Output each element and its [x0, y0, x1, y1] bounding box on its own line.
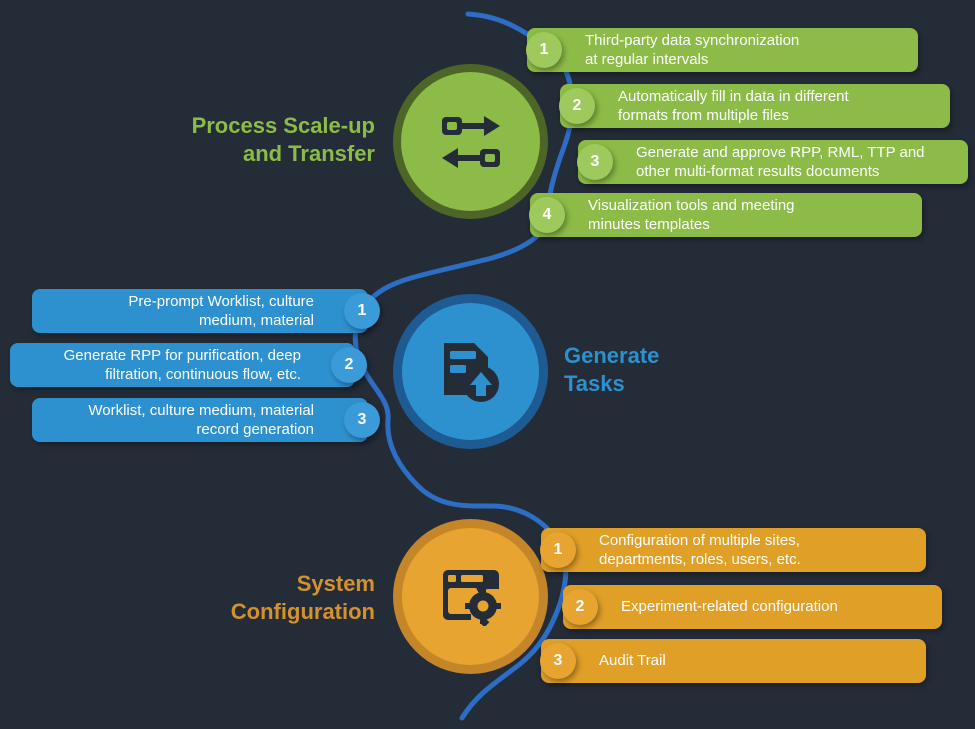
- list-item-label: Pre-prompt Worklist, culture medium, mat…: [32, 292, 368, 330]
- hub-circle-generate-tasks: [393, 294, 548, 449]
- item-number-badge: 1: [540, 532, 576, 568]
- list-item-label: Automatically fill in data in different …: [560, 87, 849, 125]
- item-number-badge: 3: [577, 144, 613, 180]
- item-number-badge: 4: [529, 197, 565, 233]
- section-title-generate-tasks: Generate Tasks: [564, 342, 824, 397]
- list-item[interactable]: 3 Generate and approve RPP, RML, TTP and…: [578, 140, 968, 184]
- transfer-arrows-icon: [440, 114, 502, 170]
- list-item[interactable]: Generate RPP for purification, deep filt…: [10, 343, 355, 387]
- item-number-badge: 2: [562, 589, 598, 625]
- list-item-label: Experiment-related configuration: [563, 597, 838, 616]
- window-gear-icon: [441, 568, 501, 626]
- list-item[interactable]: 3 Audit Trail: [541, 639, 926, 683]
- list-item[interactable]: Worklist, culture medium, material recor…: [32, 398, 368, 442]
- section-title-process-scale-up: Process Scale-up and Transfer: [110, 112, 375, 167]
- item-number-badge: 3: [344, 402, 380, 438]
- list-item[interactable]: 4 Visualization tools and meeting minute…: [530, 193, 922, 237]
- document-upload-icon: [442, 341, 500, 403]
- item-number-badge: 2: [331, 347, 367, 383]
- item-number-badge: 1: [526, 32, 562, 68]
- list-item-label: Generate RPP for purification, deep filt…: [10, 346, 355, 384]
- section-title-system-configuration: System Configuration: [110, 570, 375, 625]
- item-number-badge: 3: [540, 643, 576, 679]
- list-item-label: Worklist, culture medium, material recor…: [32, 401, 368, 439]
- item-number-badge: 1: [344, 293, 380, 329]
- list-item-label: Third-party data synchronization at regu…: [527, 31, 799, 69]
- hub-circle-system-configuration: [393, 519, 548, 674]
- hub-inner-green: [401, 72, 540, 211]
- list-item[interactable]: 2 Automatically fill in data in differen…: [560, 84, 950, 128]
- list-item[interactable]: 1 Third-party data synchronization at re…: [527, 28, 918, 72]
- list-item[interactable]: 2 Experiment-related configuration: [563, 585, 942, 629]
- item-number-badge: 2: [559, 88, 595, 124]
- list-item-label: Generate and approve RPP, RML, TTP and o…: [578, 143, 925, 181]
- list-item[interactable]: 1 Configuration of multiple sites, depar…: [541, 528, 926, 572]
- hub-circle-process-scale-up: [393, 64, 548, 219]
- list-item-label: Configuration of multiple sites, departm…: [541, 531, 801, 569]
- infographic-canvas: Process Scale-up and Transfer: [0, 0, 975, 729]
- hub-inner-orange: [402, 528, 539, 665]
- hub-inner-blue: [402, 303, 539, 440]
- list-item-label: Visualization tools and meeting minutes …: [530, 196, 795, 234]
- list-item[interactable]: Pre-prompt Worklist, culture medium, mat…: [32, 289, 368, 333]
